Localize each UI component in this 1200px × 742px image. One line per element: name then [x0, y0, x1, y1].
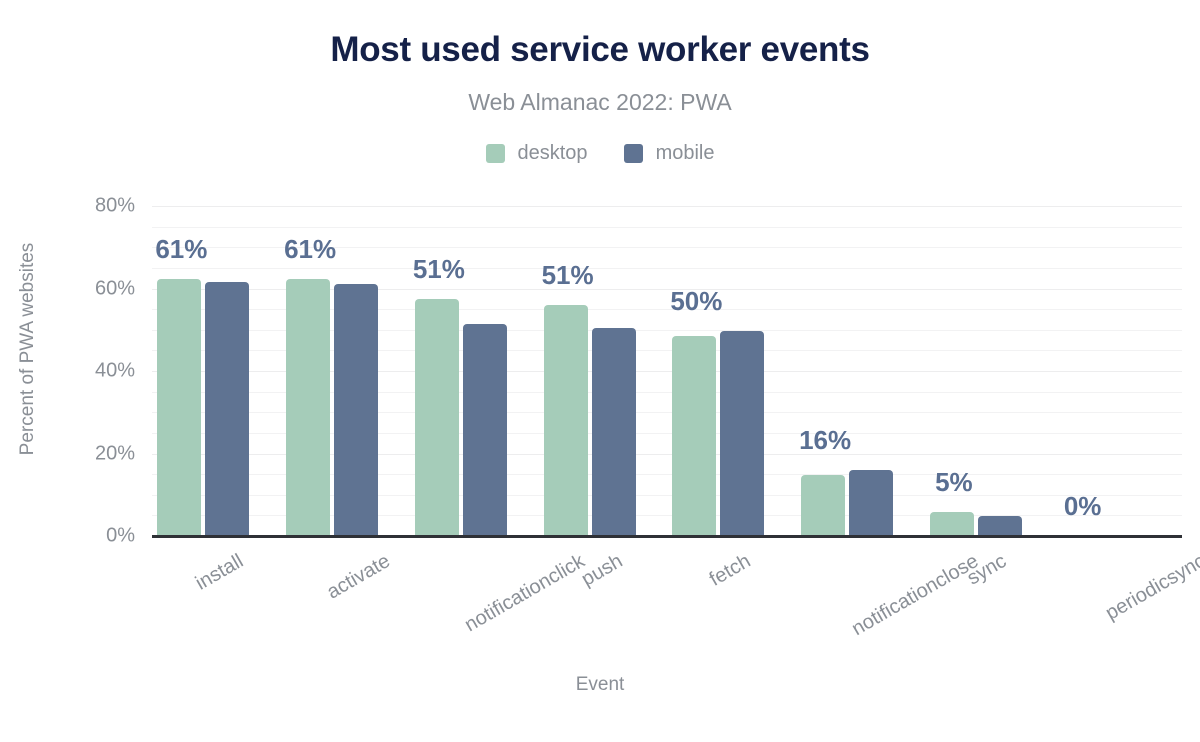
bar-sync-mobile[interactable]: [978, 516, 1022, 536]
bar-value-label: 61%: [284, 234, 336, 265]
x-axis-label-notificationclick: notificationclick: [461, 550, 589, 637]
chart-title: Most used service worker events: [0, 30, 1200, 70]
bar-install-mobile[interactable]: [205, 282, 249, 536]
gridline: [152, 268, 1182, 269]
y-axis-tick-label: 20%: [95, 442, 135, 465]
chart-subtitle: Web Almanac 2022: PWA: [0, 89, 1200, 116]
y-axis-tick-label: 80%: [95, 195, 135, 218]
bar-notificationclose-desktop[interactable]: [801, 475, 845, 536]
gridline: [152, 227, 1182, 228]
gridline: [152, 206, 1182, 207]
bar-sync-desktop[interactable]: [930, 512, 974, 536]
bar-value-label: 61%: [155, 234, 207, 265]
bar-fetch-desktop[interactable]: [672, 336, 716, 536]
bar-notificationclick-desktop[interactable]: [415, 299, 459, 536]
bar-fetch-mobile[interactable]: [720, 331, 764, 536]
legend-swatch-icon: [486, 144, 505, 163]
bar-push-desktop[interactable]: [544, 305, 588, 536]
bar-value-label: 5%: [935, 467, 973, 498]
x-axis-category-labels: installactivatenotificationclickpushfetc…: [152, 536, 1182, 666]
bar-value-label: 51%: [413, 254, 465, 285]
bar-chart: Most used service worker events Web Alma…: [0, 0, 1200, 742]
y-axis-title: Percent of PWA websites: [17, 69, 39, 629]
legend-swatch-icon: [624, 144, 643, 163]
bar-value-label: 0%: [1064, 491, 1102, 522]
y-axis-tick-label: 60%: [95, 277, 135, 300]
bar-activate-desktop[interactable]: [286, 279, 330, 536]
bar-push-mobile[interactable]: [592, 328, 636, 536]
bar-install-desktop[interactable]: [157, 279, 201, 536]
x-axis-label-periodicsync: periodicsync: [1102, 550, 1200, 626]
y-axis-tick-label: 40%: [95, 360, 135, 383]
legend-item-desktop[interactable]: desktop: [486, 142, 588, 165]
x-axis-label-push: push: [577, 550, 626, 592]
x-axis-title: Event: [0, 674, 1200, 696]
legend-item-label: desktop: [518, 142, 588, 165]
x-axis-label-activate: activate: [323, 550, 394, 604]
x-axis-label-notificationclose: notificationclose: [848, 550, 983, 641]
bar-value-label: 50%: [670, 286, 722, 317]
y-axis-tick-label: 0%: [106, 525, 135, 548]
legend-item-mobile[interactable]: mobile: [624, 142, 715, 165]
bar-notificationclose-mobile[interactable]: [849, 470, 893, 536]
x-axis-label-fetch: fetch: [706, 550, 755, 592]
x-axis-label-install: install: [192, 550, 248, 595]
plot-area: 61%61%51%51%50%16%5%0%: [152, 206, 1182, 536]
chart-legend: desktopmobile: [0, 142, 1200, 165]
bar-activate-mobile[interactable]: [334, 284, 378, 536]
bar-value-label: 16%: [799, 425, 851, 456]
bar-notificationclick-mobile[interactable]: [463, 324, 507, 536]
legend-item-label: mobile: [656, 142, 715, 165]
bar-value-label: 51%: [542, 260, 594, 291]
